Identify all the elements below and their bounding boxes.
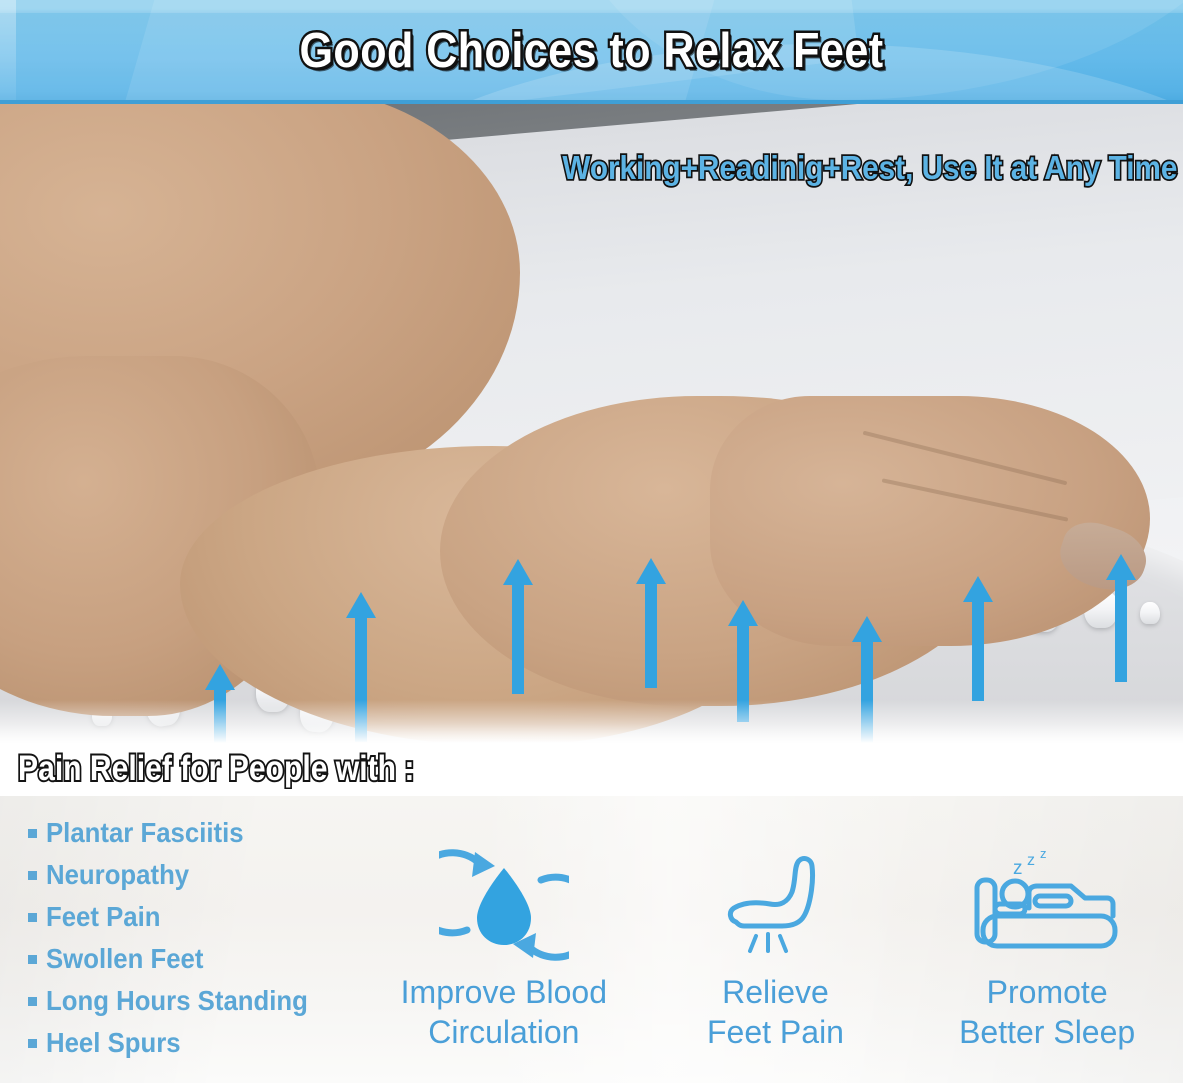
banner-left-strip [0,0,16,104]
svg-text:z: z [1027,852,1035,869]
product-photo: Working+Readinig+Rest, Use It at Any Tim… [0,104,1183,796]
list-item-label: Plantar Fasciitis [46,816,244,850]
bed-sleep-icon: z z z [913,846,1181,964]
list-item: Swollen Feet [28,938,378,980]
up-arrow-icon [963,576,993,701]
benefit-label: Promote Better Sleep [913,972,1181,1052]
list-item: Long Hours Standing [28,980,378,1022]
list-item-label: Long Hours Standing [46,984,308,1018]
list-item-label: Heel Spurs [46,1026,181,1060]
up-arrow-icon [503,559,533,694]
conditions-list: Plantar Fasciitis Neuropathy Feet Pain S… [28,812,378,1064]
pain-relief-heading: Pain Relief for People with : [18,747,414,791]
square-bullet-icon [28,871,37,880]
list-item-label: Feet Pain [46,900,161,934]
page-title: Good Choices to Relax Feet [71,20,1112,82]
up-arrow-icon [1106,554,1136,682]
product-infographic: Good Choices to Relax Feet [0,0,1183,1083]
massage-nub [1140,602,1160,624]
square-bullet-icon [28,955,37,964]
benefit-label: Relieve Feet Pain [641,972,909,1052]
list-item: Feet Pain [28,896,378,938]
toes [710,396,1150,646]
header-banner: Good Choices to Relax Feet [0,0,1183,104]
square-bullet-icon [28,829,37,838]
banner-top-strip [0,0,1183,13]
square-bullet-icon [28,913,37,922]
benefit-relieve-feet-pain: Relieve Feet Pain [641,846,909,1052]
svg-text:z: z [1013,858,1023,879]
list-item: Plantar Fasciitis [28,812,378,854]
water-drop-circulation-icon [370,846,638,964]
benefit-promote-better-sleep: z z z Promote Better Sleep [913,846,1181,1052]
square-bullet-icon [28,1039,37,1048]
list-item: Heel Spurs [28,1022,378,1064]
photo-subtitle-wrap: Working+Readinig+Rest, Use It at Any Tim… [0,146,1183,190]
up-arrow-icon [636,558,666,688]
benefit-improve-blood-circulation: Improve Blood Circulation [370,846,638,1052]
svg-text:z: z [1040,846,1047,861]
square-bullet-icon [28,997,37,1006]
benefit-label: Improve Blood Circulation [370,972,638,1052]
list-item-label: Neuropathy [46,858,189,892]
photo-subtitle: Working+Readinig+Rest, Use It at Any Tim… [562,146,1177,190]
benefits-row: Improve Blood Circulation Relieve Feet P… [368,846,1183,1052]
foot-pain-relief-icon [641,846,909,964]
list-item-label: Swollen Feet [46,942,203,976]
list-item: Neuropathy [28,854,378,896]
